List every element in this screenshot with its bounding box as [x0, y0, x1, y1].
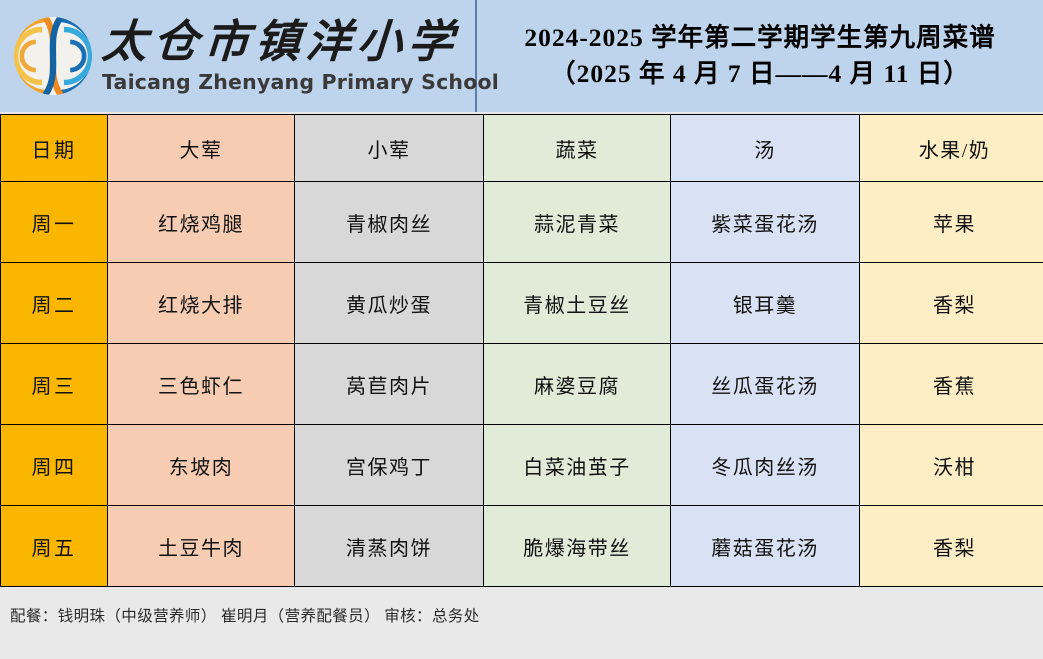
- masthead: 太仓市镇洋小学 Taicang Zhenyang Primary School …: [0, 0, 1043, 112]
- header-cell-fruit: 水果/奶: [860, 115, 1043, 182]
- cell-vegetable: 青椒土豆丝: [484, 263, 671, 344]
- cell-main-meat: 土豆牛肉: [108, 506, 295, 587]
- cell-main-meat: 东坡肉: [108, 425, 295, 506]
- school-brand: 太仓市镇洋小学 Taicang Zhenyang Primary School: [0, 0, 477, 112]
- table-header-row: 日期 大荤 小荤 蔬菜 汤 水果/奶: [1, 115, 1043, 182]
- footer-note: 配餐：钱明珠（中级营养师） 崔明月（营养配餐员） 审核：总务处: [10, 604, 480, 626]
- cell-fruit: 香梨: [860, 263, 1043, 344]
- header-cell-date: 日期: [1, 115, 108, 182]
- table-row: 周三 三色虾仁 莴苣肉片 麻婆豆腐 丝瓜蛋花汤 香蕉: [1, 344, 1043, 425]
- cell-main-meat: 红烧鸡腿: [108, 182, 295, 263]
- cell-fruit: 苹果: [860, 182, 1043, 263]
- cell-small-meat: 莴苣肉片: [295, 344, 484, 425]
- menu-title-line1: 2024-2025 学年第二学期学生第九周菜谱: [524, 20, 995, 56]
- cell-day: 周五: [1, 506, 108, 587]
- cell-soup: 蘑菇蛋花汤: [671, 506, 860, 587]
- school-name-en: Taicang Zhenyang Primary School: [102, 72, 499, 93]
- table-row: 周一 红烧鸡腿 青椒肉丝 蒜泥青菜 紫菜蛋花汤 苹果: [1, 182, 1043, 263]
- school-emblem-icon: [14, 17, 92, 95]
- cell-fruit: 香蕉: [860, 344, 1043, 425]
- cell-vegetable: 蒜泥青菜: [484, 182, 671, 263]
- table-row: 周五 土豆牛肉 清蒸肉饼 脆爆海带丝 蘑菇蛋花汤 香梨: [1, 506, 1043, 587]
- cell-soup: 银耳羹: [671, 263, 860, 344]
- cell-day: 周四: [1, 425, 108, 506]
- cell-day: 周三: [1, 344, 108, 425]
- table-row: 周四 东坡肉 宫保鸡丁 白菜油茧子 冬瓜肉丝汤 沃柑: [1, 425, 1043, 506]
- cell-vegetable: 脆爆海带丝: [484, 506, 671, 587]
- cell-small-meat: 黄瓜炒蛋: [295, 263, 484, 344]
- school-name-cn: 太仓市镇洋小学: [100, 20, 500, 65]
- cell-soup: 冬瓜肉丝汤: [671, 425, 860, 506]
- cell-small-meat: 宫保鸡丁: [295, 425, 484, 506]
- cell-main-meat: 红烧大排: [108, 263, 295, 344]
- cell-small-meat: 青椒肉丝: [295, 182, 484, 263]
- cell-fruit: 沃柑: [860, 425, 1043, 506]
- header-cell-main-meat: 大荤: [108, 115, 295, 182]
- menu-title: 2024-2025 学年第二学期学生第九周菜谱 （2025 年 4 月 7 日—…: [477, 0, 1043, 112]
- cell-soup: 丝瓜蛋花汤: [671, 344, 860, 425]
- cell-soup: 紫菜蛋花汤: [671, 182, 860, 263]
- table-row: 周二 红烧大排 黄瓜炒蛋 青椒土豆丝 银耳羹 香梨: [1, 263, 1043, 344]
- menu-page: 太仓市镇洋小学 Taicang Zhenyang Primary School …: [0, 0, 1043, 659]
- school-name-block: 太仓市镇洋小学 Taicang Zhenyang Primary School: [102, 20, 499, 93]
- header-cell-soup: 汤: [671, 115, 860, 182]
- cell-vegetable: 麻婆豆腐: [484, 344, 671, 425]
- cell-small-meat: 清蒸肉饼: [295, 506, 484, 587]
- cell-main-meat: 三色虾仁: [108, 344, 295, 425]
- cell-vegetable: 白菜油茧子: [484, 425, 671, 506]
- header-cell-vegetable: 蔬菜: [484, 115, 671, 182]
- header-cell-small-meat: 小荤: [295, 115, 484, 182]
- cell-day: 周二: [1, 263, 108, 344]
- cell-fruit: 香梨: [860, 506, 1043, 587]
- weekly-menu-table: 日期 大荤 小荤 蔬菜 汤 水果/奶 周一 红烧鸡腿 青椒肉丝 蒜泥青菜 紫菜蛋…: [0, 114, 1043, 587]
- menu-title-line2: （2025 年 4 月 7 日——4 月 11 日）: [550, 56, 970, 92]
- cell-day: 周一: [1, 182, 108, 263]
